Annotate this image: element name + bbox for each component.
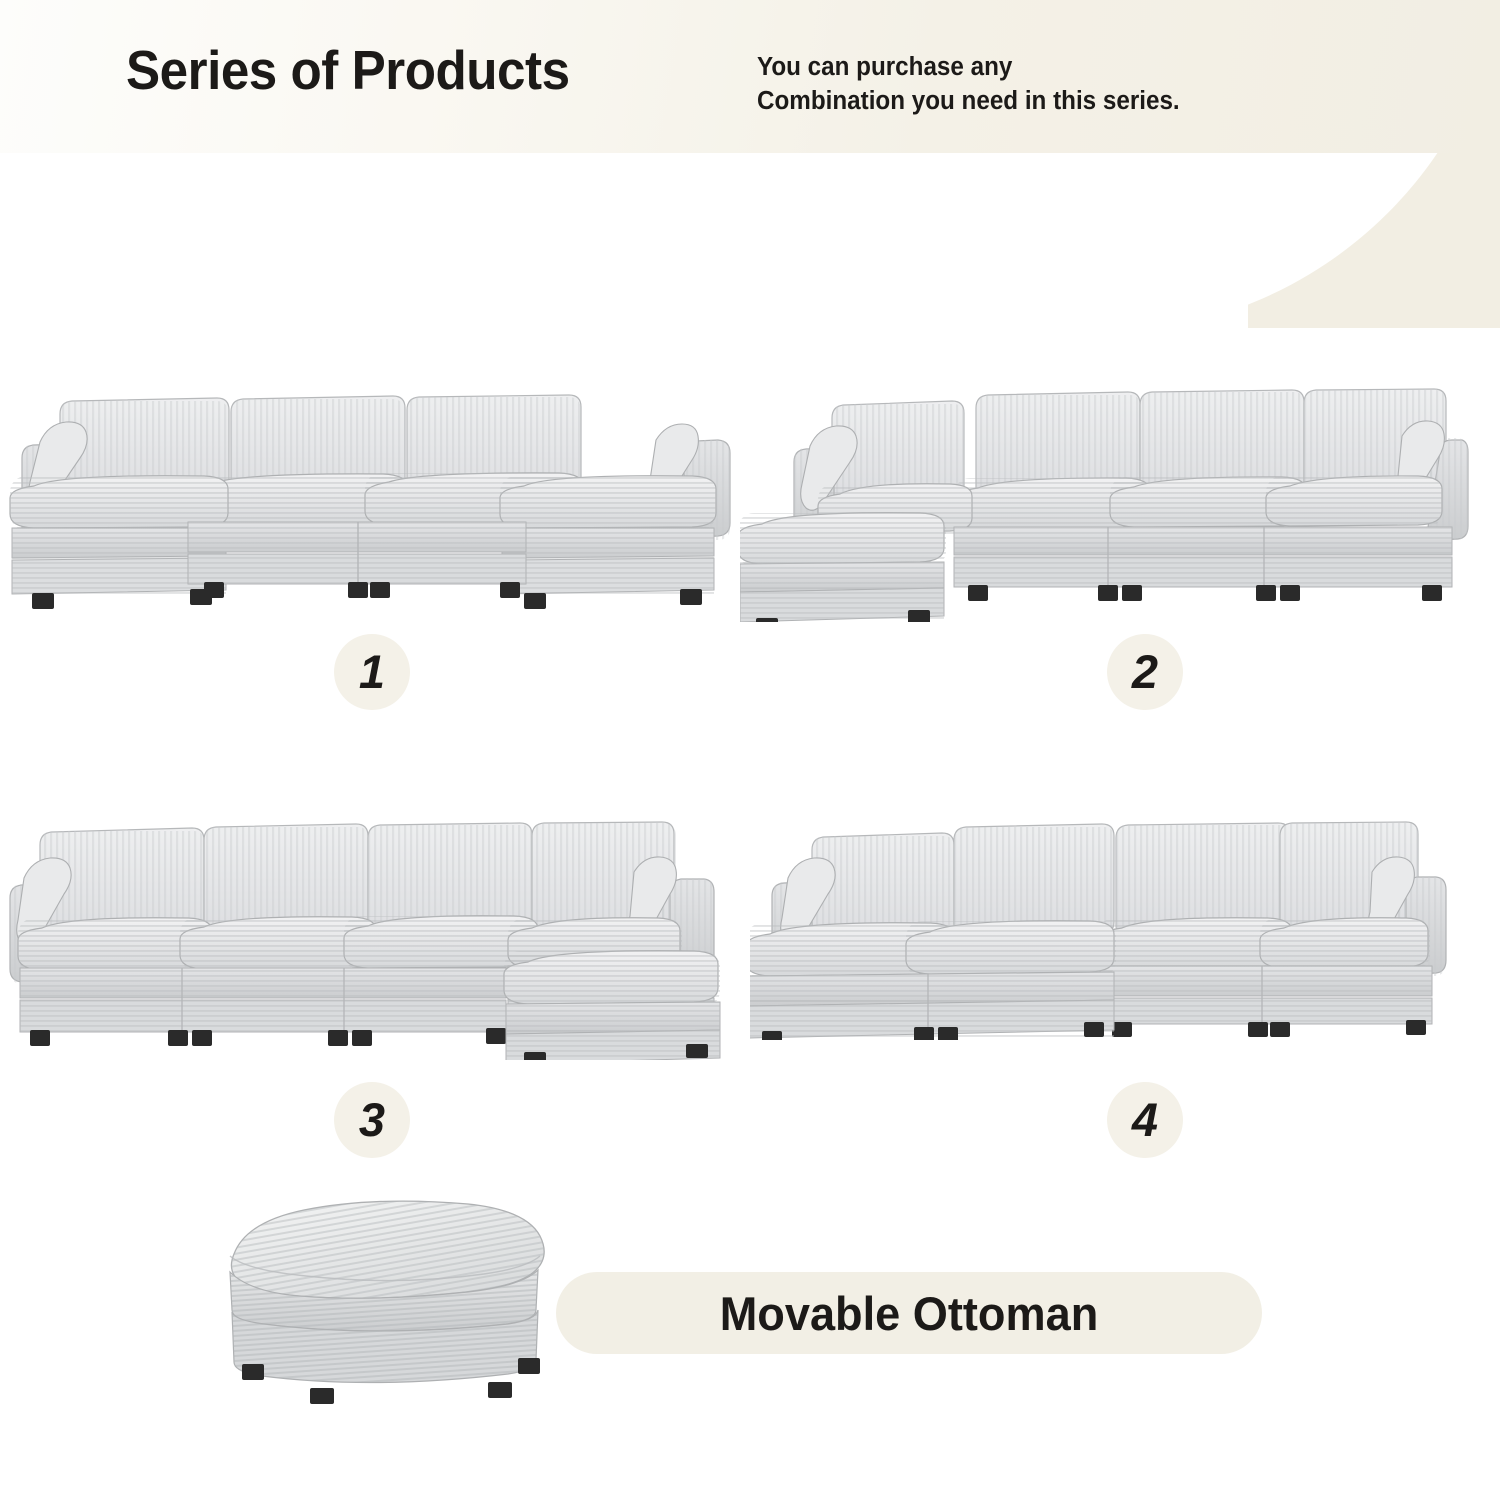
ottoman-front-right [504, 951, 720, 1060]
sofa-foot [348, 582, 368, 598]
sofa-foot [1422, 585, 1442, 601]
right-base [1100, 966, 1432, 1037]
center-base [188, 522, 526, 598]
seat-cushion-row [954, 476, 1442, 530]
header-band-rounded-corner [1248, 153, 1500, 328]
sofa-foot [488, 1382, 512, 1398]
sofa-foot [32, 593, 54, 609]
combination-illustration-2 [740, 382, 1470, 622]
sofa-foot [1084, 1022, 1104, 1037]
sofa-foot [352, 1030, 372, 1046]
sofa-foot [914, 1027, 934, 1040]
sofa-foot [524, 1052, 546, 1060]
sofa-foot [968, 585, 988, 601]
sofa-foot [938, 1027, 958, 1040]
combination-illustration-3 [8, 810, 738, 1060]
sofa-foot [908, 610, 930, 622]
sofa-foot [524, 593, 546, 609]
sofa-foot [30, 1030, 50, 1046]
sofa-foot [486, 1028, 506, 1044]
combination-badge-3: 3 [334, 1082, 410, 1158]
sofa-foot [310, 1388, 334, 1404]
ottoman-front-left [740, 513, 946, 622]
seat-cushion-row [1098, 918, 1430, 970]
combination-badge-3-label: 3 [359, 1096, 385, 1143]
sofa-foot [500, 582, 520, 598]
combination-illustration-4 [750, 810, 1450, 1040]
sofa-foot [1112, 1022, 1132, 1037]
sofa-foot [686, 1044, 708, 1058]
sofa-foot [518, 1358, 540, 1374]
sofa-foot [192, 1030, 212, 1046]
combination-badge-2: 2 [1107, 634, 1183, 710]
combination-badge-2-label: 2 [1132, 648, 1158, 695]
sofa-foot [1122, 585, 1142, 601]
sofa-foot [1270, 1022, 1290, 1037]
sofa-base [20, 968, 506, 1046]
header-corner-cutout [1248, 153, 1500, 328]
combination-badge-1-label: 1 [359, 648, 385, 695]
sofa-foot [328, 1030, 348, 1046]
page-title: Series of Products [126, 38, 570, 102]
combination-badge-4: 4 [1107, 1082, 1183, 1158]
header-corner-fill [1248, 153, 1500, 328]
sofa-foot [242, 1364, 264, 1380]
combination-illustration-1 [8, 382, 738, 622]
sofa-foot [1256, 585, 1276, 601]
combination-badge-4-label: 4 [1132, 1096, 1158, 1143]
sofa-foot [1406, 1020, 1426, 1035]
sofa-foot [204, 582, 224, 598]
sofa-foot [370, 582, 390, 598]
movable-ottoman-banner: Movable Ottoman [556, 1272, 1262, 1354]
sofa-foot [168, 1030, 188, 1046]
page-subtitle: You can purchase any Combination you nee… [757, 51, 1180, 118]
ottoman-top-cushion [230, 1201, 544, 1298]
sofa-foot [756, 618, 778, 622]
sofa-base [954, 527, 1452, 601]
ottoman-front-left-pair [750, 921, 1116, 1040]
movable-ottoman-label: Movable Ottoman [570, 1272, 1248, 1354]
ottoman-right [500, 476, 716, 609]
sofa-foot [680, 589, 702, 605]
sofa-foot [1248, 1022, 1268, 1037]
sofa-foot [1280, 585, 1300, 601]
sofa-foot [762, 1031, 782, 1040]
sofa-foot [1098, 585, 1118, 601]
movable-ottoman-illustration [200, 1192, 580, 1422]
combination-badge-1: 1 [334, 634, 410, 710]
